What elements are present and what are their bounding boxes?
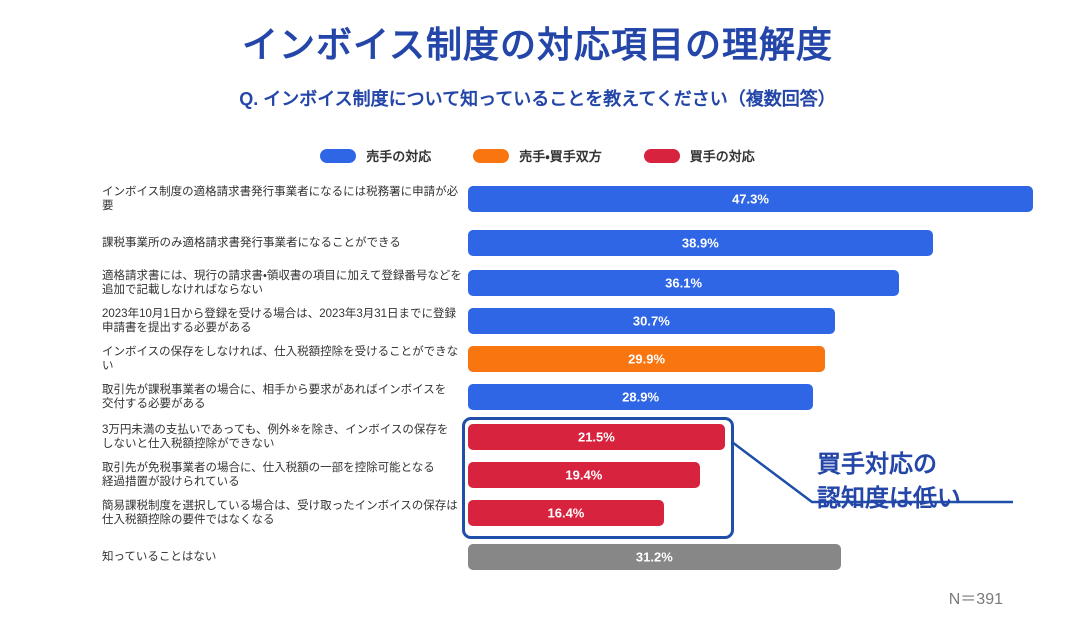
chart-row: 2023年10月1日から登録を受ける場合は、2023年3月31日までに登録申請書… [0,308,1075,334]
bar-value-label: 31.2% [636,550,673,565]
category-label-line: しないと仕入税額控除ができない [102,437,462,451]
bar-seller[interactable]: 38.9% [468,230,933,256]
bar-seller[interactable]: 36.1% [468,270,899,296]
bar-value-label: 28.9% [622,390,659,405]
category-label-line: 適格請求書には、現行の請求書・領収書の項目に加えて登録番号などを [102,269,462,283]
callout-annotation-line1: 買手対応の [817,448,961,482]
category-label-line: 申請書を提出する必要がある [102,321,462,335]
category-label: 2023年10月1日から登録を受ける場合は、2023年3月31日までに登録申請書… [102,307,462,335]
bar-buyer[interactable]: 19.4% [468,462,700,488]
chart-row: 知っていることはない31.2% [0,544,1075,570]
bar-both[interactable]: 29.9% [468,346,825,372]
legend-item-buyer[interactable]: 買手の対応 [644,146,755,165]
bar-value-label: 19.4% [565,468,602,483]
chart-legend: 売手の対応売手・買手双方買手の対応 [0,146,1075,165]
category-label: 適格請求書には、現行の請求書・領収書の項目に加えて登録番号などを追加で記載しなけ… [102,269,462,297]
bar-track: 30.7% [468,308,835,334]
bar-value-label: 36.1% [665,276,702,291]
bar-value-label: 38.9% [682,236,719,251]
callout-annotation-line2: 認知度は低い [817,482,961,516]
chart-row: 3万円未満の支払いであっても、例外※を除き、インボイスの保存をしないと仕入税額控… [0,424,1075,450]
category-label-line: 経過措置が設けられている [102,475,462,489]
bar-buyer[interactable]: 21.5% [468,424,725,450]
chart-row: インボイス制度の適格請求書発行事業者になるには税務署に申請が必要47.3% [0,186,1075,212]
category-label: 知っていることはない [102,550,462,564]
bar-value-label: 16.4% [548,506,585,521]
bar-track: 29.9% [468,346,825,372]
bar-track: 28.9% [468,384,813,410]
bar-track: 31.2% [468,544,841,570]
category-label-line: 簡易課税制度を選択している場合は、受け取ったインボイスの保存は [102,499,462,513]
chart-subtitle: Q. インボイス制度について知っていることを教えてください（複数回答） [0,85,1075,111]
category-label: 3万円未満の支払いであっても、例外※を除き、インボイスの保存をしないと仕入税額控… [102,423,462,451]
bar-track: 38.9% [468,230,933,256]
legend-label-buyer: 買手の対応 [690,146,755,165]
legend-swatch-both [473,149,509,163]
category-label-line: インボイスの保存をしなければ、仕入税額控除を受けることができない [102,345,462,373]
bar-chart-plot-area: インボイス制度の適格請求書発行事業者になるには税務署に申請が必要47.3%課税事… [0,182,1075,582]
category-label: インボイス制度の適格請求書発行事業者になるには税務署に申請が必要 [102,185,462,213]
category-label-line: インボイス制度の適格請求書発行事業者になるには税務署に申請が必要 [102,185,462,213]
bar-track: 19.4% [468,462,700,488]
bar-track: 36.1% [468,270,899,296]
category-label: インボイスの保存をしなければ、仕入税額控除を受けることができない [102,345,462,373]
bar-track: 21.5% [468,424,725,450]
bar-value-label: 21.5% [578,430,615,445]
bar-seller[interactable]: 28.9% [468,384,813,410]
category-label: 課税事業所のみ適格請求書発行事業者になることができる [102,236,462,250]
page-title: インボイス制度の対応項目の理解度 [0,16,1075,68]
category-label-line: 知っていることはない [102,550,462,564]
legend-item-both[interactable]: 売手・買手双方 [473,146,601,165]
legend-item-seller[interactable]: 売手の対応 [320,146,431,165]
category-label: 簡易課税制度を選択している場合は、受け取ったインボイスの保存は仕入税額控除の要件… [102,499,462,527]
chart-row: インボイスの保存をしなければ、仕入税額控除を受けることができない29.9% [0,346,1075,372]
bar-seller[interactable]: 30.7% [468,308,835,334]
bar-track: 16.4% [468,500,664,526]
bar-none[interactable]: 31.2% [468,544,841,570]
category-label-line: 課税事業所のみ適格請求書発行事業者になることができる [102,236,462,250]
bar-seller[interactable]: 47.3% [468,186,1033,212]
category-label-line: 取引先が免税事業者の場合に、仕入税額の一部を控除可能となる [102,461,462,475]
sample-size-note: N＝391 [949,585,1003,609]
chart-row: 適格請求書には、現行の請求書・領収書の項目に加えて登録番号などを追加で記載しなけ… [0,270,1075,296]
callout-annotation: 買手対応の 認知度は低い [817,448,961,516]
legend-label-both: 売手・買手双方 [519,146,601,165]
legend-label-seller: 売手の対応 [366,146,431,165]
legend-swatch-seller [320,149,356,163]
category-label-line: 3万円未満の支払いであっても、例外※を除き、インボイスの保存を [102,423,462,437]
category-label: 取引先が課税事業者の場合に、相手から要求があればインボイスを交付する必要がある [102,383,462,411]
category-label-line: 取引先が課税事業者の場合に、相手から要求があればインボイスを [102,383,462,397]
category-label: 取引先が免税事業者の場合に、仕入税額の一部を控除可能となる経過措置が設けられてい… [102,461,462,489]
chart-row: 取引先が課税事業者の場合に、相手から要求があればインボイスを交付する必要がある2… [0,384,1075,410]
category-label-line: 仕入税額控除の要件ではなくなる [102,513,462,527]
category-label-line: 追加で記載しなければならない [102,283,462,297]
category-label-line: 交付する必要がある [102,397,462,411]
category-label-line: 2023年10月1日から登録を受ける場合は、2023年3月31日までに登録 [102,307,462,321]
chart-row: 課税事業所のみ適格請求書発行事業者になることができる38.9% [0,230,1075,256]
legend-swatch-buyer [644,149,680,163]
bar-value-label: 30.7% [633,314,670,329]
bar-value-label: 29.9% [628,352,665,367]
bar-value-label: 47.3% [732,192,769,207]
bar-track: 47.3% [468,186,1033,212]
bar-buyer[interactable]: 16.4% [468,500,664,526]
